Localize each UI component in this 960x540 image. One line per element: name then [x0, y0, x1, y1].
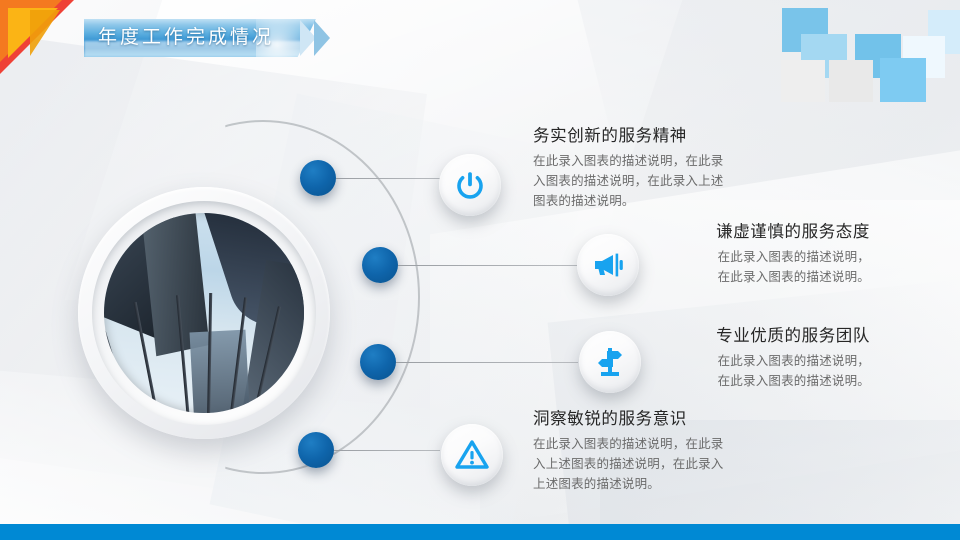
slide-title: 年度工作完成情况: [84, 19, 316, 57]
node-dot-1[interactable]: [300, 160, 336, 196]
signpost-icon: [593, 345, 627, 379]
item-body-3: 在此录入图表的描述说明， 在此录入图表的描述说明。: [640, 351, 870, 391]
icon-bubble-1[interactable]: [439, 154, 501, 216]
square-9: [829, 60, 873, 102]
icon-bubble-4[interactable]: [441, 424, 503, 486]
node-dot-3[interactable]: [360, 344, 396, 380]
node-dot-4[interactable]: [298, 432, 334, 468]
square-8: [781, 60, 825, 102]
text-block-2: 谦虚谨慎的服务态度 在此录入图表的描述说明， 在此录入图表的描述说明。: [640, 218, 870, 287]
item-heading-4: 洞察敏锐的服务意识: [533, 405, 763, 429]
node-dot-2[interactable]: [362, 247, 398, 283]
connector-line-2: [398, 265, 578, 266]
corner-triangle-gold: [30, 10, 60, 56]
text-block-1: 务实创新的服务精神 在此录入图表的描述说明，在此录 入图表的描述说明，在此录入上…: [533, 122, 763, 211]
icon-bubble-3[interactable]: [579, 331, 641, 393]
item-heading-3: 专业优质的服务团队: [640, 322, 870, 346]
slide-title-banner: 年度工作完成情况: [84, 19, 316, 57]
item-body-2: 在此录入图表的描述说明， 在此录入图表的描述说明。: [640, 247, 870, 287]
connector-line-3: [396, 362, 578, 363]
bottom-accent-bar: [0, 524, 960, 540]
megaphone-icon: [591, 248, 625, 282]
item-heading-2: 谦虚谨慎的服务态度: [640, 218, 870, 242]
chevron-right-icon: [314, 20, 330, 56]
power-icon: [453, 168, 487, 202]
warning-triangle-icon: [455, 438, 489, 472]
item-heading-1: 务实创新的服务精神: [533, 122, 763, 146]
text-block-3: 专业优质的服务团队 在此录入图表的描述说明， 在此录入图表的描述说明。: [640, 322, 870, 391]
connector-line-1: [336, 178, 440, 179]
item-body-1: 在此录入图表的描述说明，在此录 入图表的描述说明，在此录入上述 图表的描述说明。: [533, 151, 763, 211]
icon-bubble-2[interactable]: [577, 234, 639, 296]
slide-canvas: 年度工作完成情况: [0, 0, 960, 540]
item-body-4: 在此录入图表的描述说明，在此录 入上述图表的描述说明，在此录入 上述图表的描述说…: [533, 434, 763, 494]
connector-line-4: [334, 450, 440, 451]
square-7: [880, 58, 926, 102]
text-block-4: 洞察敏锐的服务意识 在此录入图表的描述说明，在此录 入上述图表的描述说明，在此录…: [533, 405, 763, 494]
